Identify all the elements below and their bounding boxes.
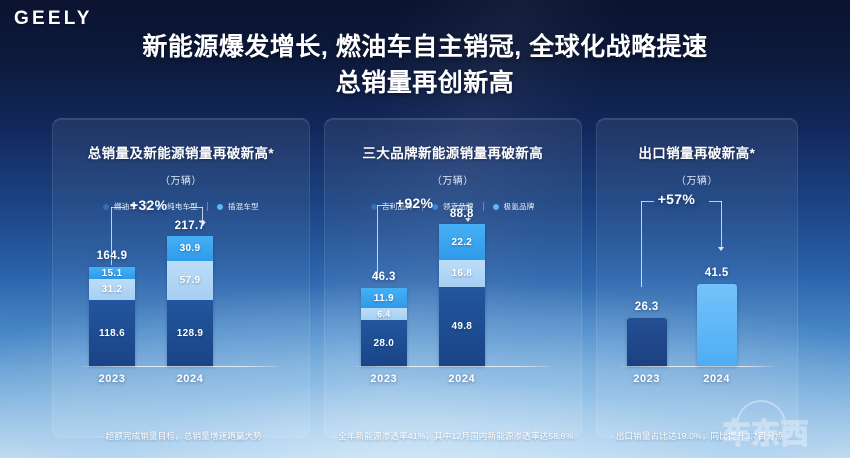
cards-row: 总销量及新能源销量再破新高* （万辆） 燃油车 纯电车型 插混车型 <box>52 118 798 438</box>
x-tick-label: 2024 <box>430 373 494 385</box>
x-axis <box>621 366 773 367</box>
bullet-icon: · <box>610 432 613 441</box>
bar-total-label: 164.9 <box>80 250 144 262</box>
bracket-left-horizontal <box>641 201 654 202</box>
bar-group-2024: 88.8 22.2 16.8 49.8 2024 <box>439 224 485 366</box>
card-title: 三大品牌新能源销量再破新高 <box>325 142 581 162</box>
card-total-sales: 总销量及新能源销量再破新高* （万辆） 燃油车 纯电车型 插混车型 <box>52 118 310 438</box>
stacked-bar: 30.9 57.9 128.9 <box>167 236 213 366</box>
bar-group-2023: 46.3 11.9 6.4 28.0 2023 <box>361 288 407 366</box>
growth-value: +32% <box>130 197 167 213</box>
card-title: 出口销量再破新高* <box>597 142 797 162</box>
bar-chart: +92% 46.3 11.9 6.4 28.0 <box>325 195 581 391</box>
card-nev-brands: 三大品牌新能源销量再破新高 （万辆） 吉利品牌 领克品牌 极氪品牌 <box>324 118 582 438</box>
bar-segment-lynkco: 6.4 <box>361 308 407 320</box>
card-unit: （万辆） <box>325 172 581 187</box>
bar-segment-geely: 28.0 <box>361 320 407 366</box>
bar-group-2024: 41.5 2024 <box>697 284 737 366</box>
footnote-3: · 出口销量占比达19.0%，同比提升3.7百分点 <box>596 425 798 447</box>
page-title: 新能源爆发增长, 燃油车自主销冠, 全球化战略提速 总销量再创新高 <box>0 30 850 101</box>
geely-logo: GEELY <box>14 8 93 30</box>
bar-segment-phev: 15.1 <box>89 267 135 279</box>
footnote-text: 全年新能源渗透率41%，其中12月国内新能源渗透率达58.6% <box>338 430 573 442</box>
stacked-bar: 15.1 31.2 118.6 <box>89 267 135 366</box>
bar-segment-geely: 49.8 <box>439 287 485 366</box>
bar-segment-export-2024 <box>697 284 737 366</box>
headline-line-2: 总销量再创新高 <box>0 66 850 102</box>
footnote-1: · 超额完成销量目标，总销量增速跑赢大势 <box>52 425 310 447</box>
x-tick-label: 2024 <box>158 373 222 385</box>
headline-line-1: 新能源爆发增长, 燃油车自主销冠, 全球化战略提速 <box>0 30 850 66</box>
bullet-icon: · <box>333 432 336 441</box>
bracket-left-horizontal <box>377 205 391 206</box>
bar-segment-lynkco: 16.8 <box>439 260 485 287</box>
bracket-right-horizontal <box>189 207 203 208</box>
card-unit: （万辆） <box>597 172 797 187</box>
x-tick-label: 2023 <box>80 373 144 385</box>
footnote-text: 超额完成销量目标，总销量增速跑赢大势 <box>106 430 263 442</box>
footnote-text: 出口销量占比达19.0%，同比提升3.7百分点 <box>616 430 784 442</box>
footnotes-row: · 超额完成销量目标，总销量增速跑赢大势 · 全年新能源渗透率41%，其中12月… <box>52 425 798 447</box>
bar-group-2023: 26.3 2023 <box>627 318 667 366</box>
card-exports: 出口销量再破新高* （万辆） +57% 26.3 <box>596 118 798 438</box>
bar-segment-zeekr: 11.9 <box>361 288 407 308</box>
bar-segment-ice: 128.9 <box>167 300 213 366</box>
bar-group-2024: 217.7 30.9 57.9 128.9 2024 <box>167 236 213 366</box>
bar-segment-bev: 31.2 <box>89 279 135 300</box>
bar-segment-zeekr: 22.2 <box>439 224 485 260</box>
bar-total-label: 217.7 <box>158 220 222 232</box>
growth-annotation: +57% <box>597 189 797 249</box>
bar-group-2023: 164.9 15.1 31.2 118.6 2023 <box>89 267 135 366</box>
bracket-arrow-icon <box>718 247 724 251</box>
bar-segment-bev: 57.9 <box>167 261 213 300</box>
bracket-left-vertical <box>641 201 642 287</box>
x-tick-label: 2023 <box>615 373 679 385</box>
stacked-bar: 11.9 6.4 28.0 <box>361 288 407 366</box>
bar-value-label: 26.3 <box>615 301 679 313</box>
stacked-bar: 22.2 16.8 49.8 <box>439 224 485 366</box>
x-axis <box>83 366 279 367</box>
bar-chart: +57% 26.3 2023 41.5 2024 <box>597 195 797 391</box>
bar-segment-ice: 118.6 <box>89 300 135 366</box>
bar-segment-export-2023 <box>627 318 667 366</box>
slide-canvas: GEELY 新能源爆发增长, 燃油车自主销冠, 全球化战略提速 总销量再创新高 … <box>0 0 850 458</box>
bar <box>627 318 667 366</box>
bar-total-label: 88.8 <box>430 208 494 220</box>
footnote-2: · 全年新能源渗透率41%，其中12月国内新能源渗透率达58.6% <box>324 425 582 447</box>
bar-chart: +32% 164.9 15.1 31.2 118.6 <box>53 195 309 391</box>
bullet-icon: · <box>100 432 103 441</box>
growth-value: +92% <box>396 195 433 211</box>
bracket-right-vertical <box>721 201 722 248</box>
bracket-left-horizontal <box>111 207 125 208</box>
bar <box>697 284 737 366</box>
bracket-left-vertical <box>377 205 378 277</box>
x-tick-label: 2024 <box>685 373 749 385</box>
bar-value-label: 41.5 <box>685 267 749 279</box>
card-title: 总销量及新能源销量再破新高* <box>53 142 309 162</box>
card-unit: （万辆） <box>53 172 309 187</box>
x-tick-label: 2023 <box>352 373 416 385</box>
bracket-right-horizontal <box>455 205 469 206</box>
bar-total-label: 46.3 <box>352 271 416 283</box>
bar-segment-phev: 30.9 <box>167 236 213 261</box>
growth-value: +57% <box>658 191 695 207</box>
x-axis <box>355 366 551 367</box>
